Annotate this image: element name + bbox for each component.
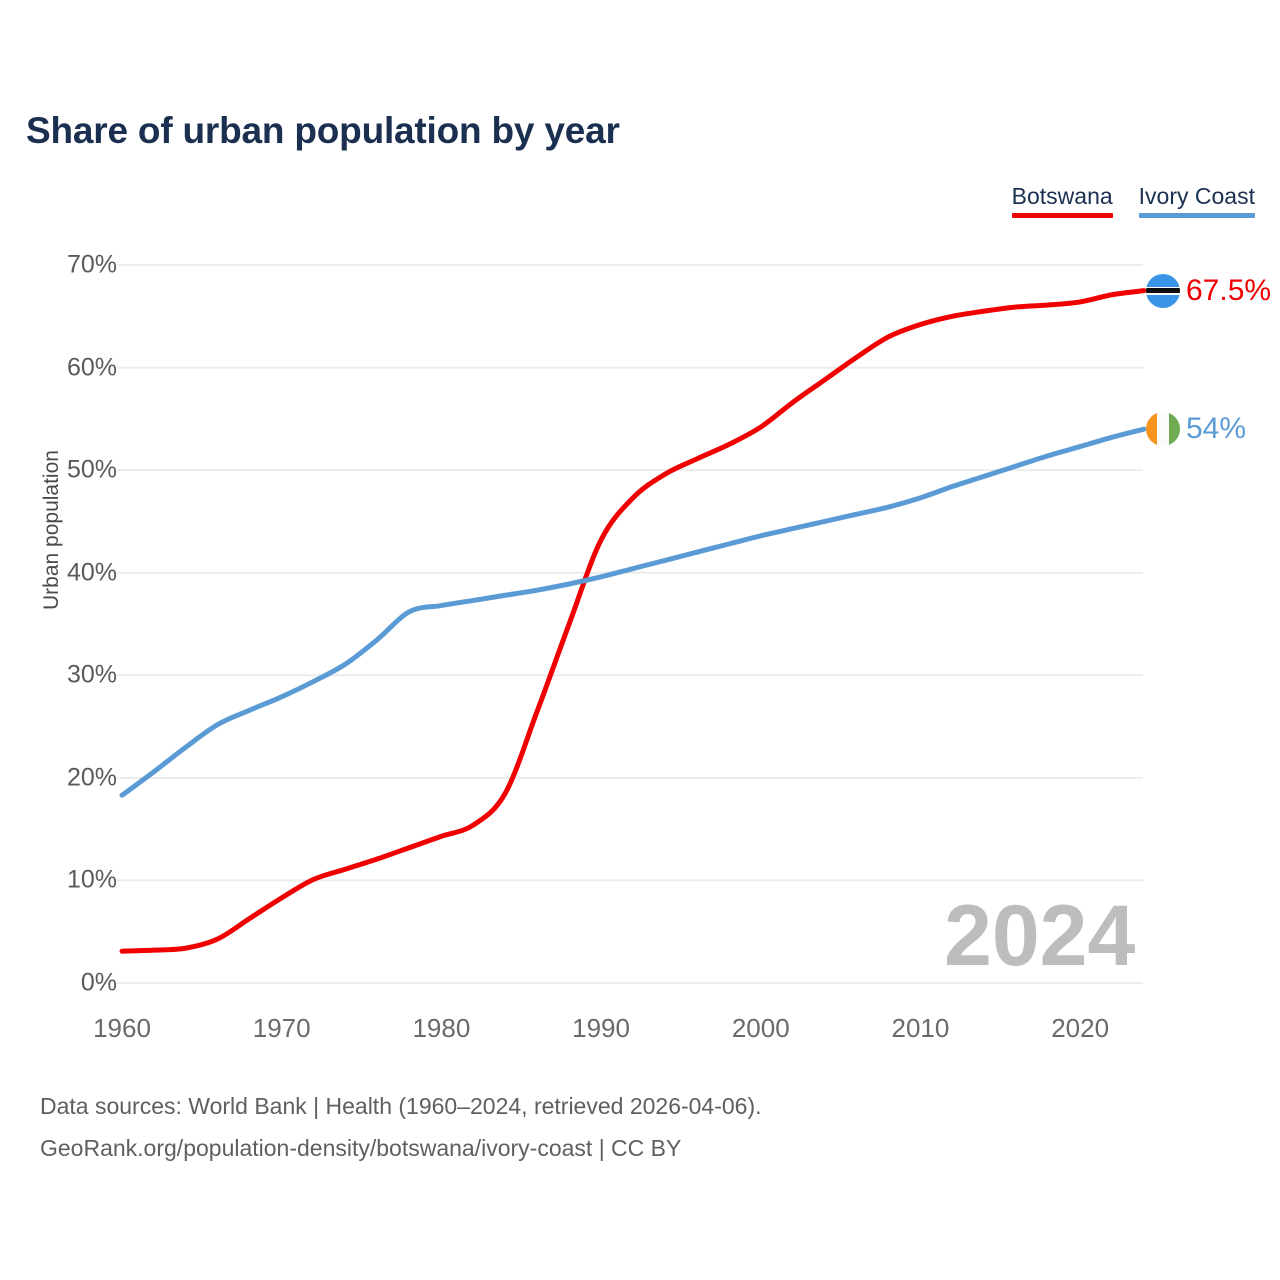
y-axis-tick-label: 50% bbox=[67, 456, 117, 485]
x-axis-tick-label: 2020 bbox=[1051, 1013, 1109, 1044]
endpoint-value-botswana: 67.5% bbox=[1186, 276, 1271, 306]
page-title: Share of urban population by year bbox=[26, 110, 620, 152]
legend-item-botswana[interactable]: Botswana bbox=[1012, 183, 1113, 218]
x-axis-tick-label: 2010 bbox=[892, 1013, 950, 1044]
chart-page: Share of urban population by year Botswa… bbox=[0, 0, 1280, 1280]
ivory-coast-flag-icon bbox=[1146, 412, 1180, 446]
year-watermark: 2024 bbox=[944, 893, 1135, 979]
legend-item-ivory-coast[interactable]: Ivory Coast bbox=[1139, 183, 1255, 218]
y-axis-tick-label: 30% bbox=[67, 661, 117, 690]
x-axis-tick-label: 1970 bbox=[253, 1013, 311, 1044]
endpoint-label-botswana: 67.5% bbox=[1146, 274, 1271, 308]
series-line-botswana bbox=[122, 291, 1144, 952]
x-axis-tick-label: 1990 bbox=[572, 1013, 630, 1044]
endpoint-value-ivory-coast: 54% bbox=[1186, 414, 1246, 444]
gridlines bbox=[117, 265, 1143, 983]
legend-color-swatch-ivory-coast bbox=[1139, 213, 1255, 218]
y-axis-tick-label: 10% bbox=[67, 866, 117, 895]
series-line-ivory-coast bbox=[122, 429, 1144, 795]
y-axis-tick-label: 20% bbox=[67, 763, 117, 792]
y-axis-tick-label: 40% bbox=[67, 558, 117, 587]
x-axis-tick-label: 1960 bbox=[93, 1013, 151, 1044]
footer-line-url: GeoRank.org/population-density/botswana/… bbox=[40, 1127, 762, 1169]
y-axis-tick-label: 60% bbox=[67, 353, 117, 382]
x-axis-tick-label: 1980 bbox=[412, 1013, 470, 1044]
y-axis-title: Urban population bbox=[40, 450, 64, 610]
y-axis-tick-label: 0% bbox=[81, 969, 117, 998]
legend-color-swatch-botswana bbox=[1012, 213, 1113, 218]
series-lines bbox=[122, 291, 1144, 952]
endpoint-label-ivory-coast: 54% bbox=[1146, 412, 1246, 446]
chart-legend: Botswana Ivory Coast bbox=[1012, 183, 1255, 218]
legend-label-botswana: Botswana bbox=[1012, 183, 1113, 210]
botswana-flag-icon bbox=[1146, 274, 1180, 308]
x-axis-tick-label: 2000 bbox=[732, 1013, 790, 1044]
legend-label-ivory-coast: Ivory Coast bbox=[1139, 183, 1255, 210]
y-axis-tick-label: 70% bbox=[67, 251, 117, 280]
footer-line-sources: Data sources: World Bank | Health (1960–… bbox=[40, 1085, 762, 1127]
footer-credits: Data sources: World Bank | Health (1960–… bbox=[40, 1085, 762, 1169]
